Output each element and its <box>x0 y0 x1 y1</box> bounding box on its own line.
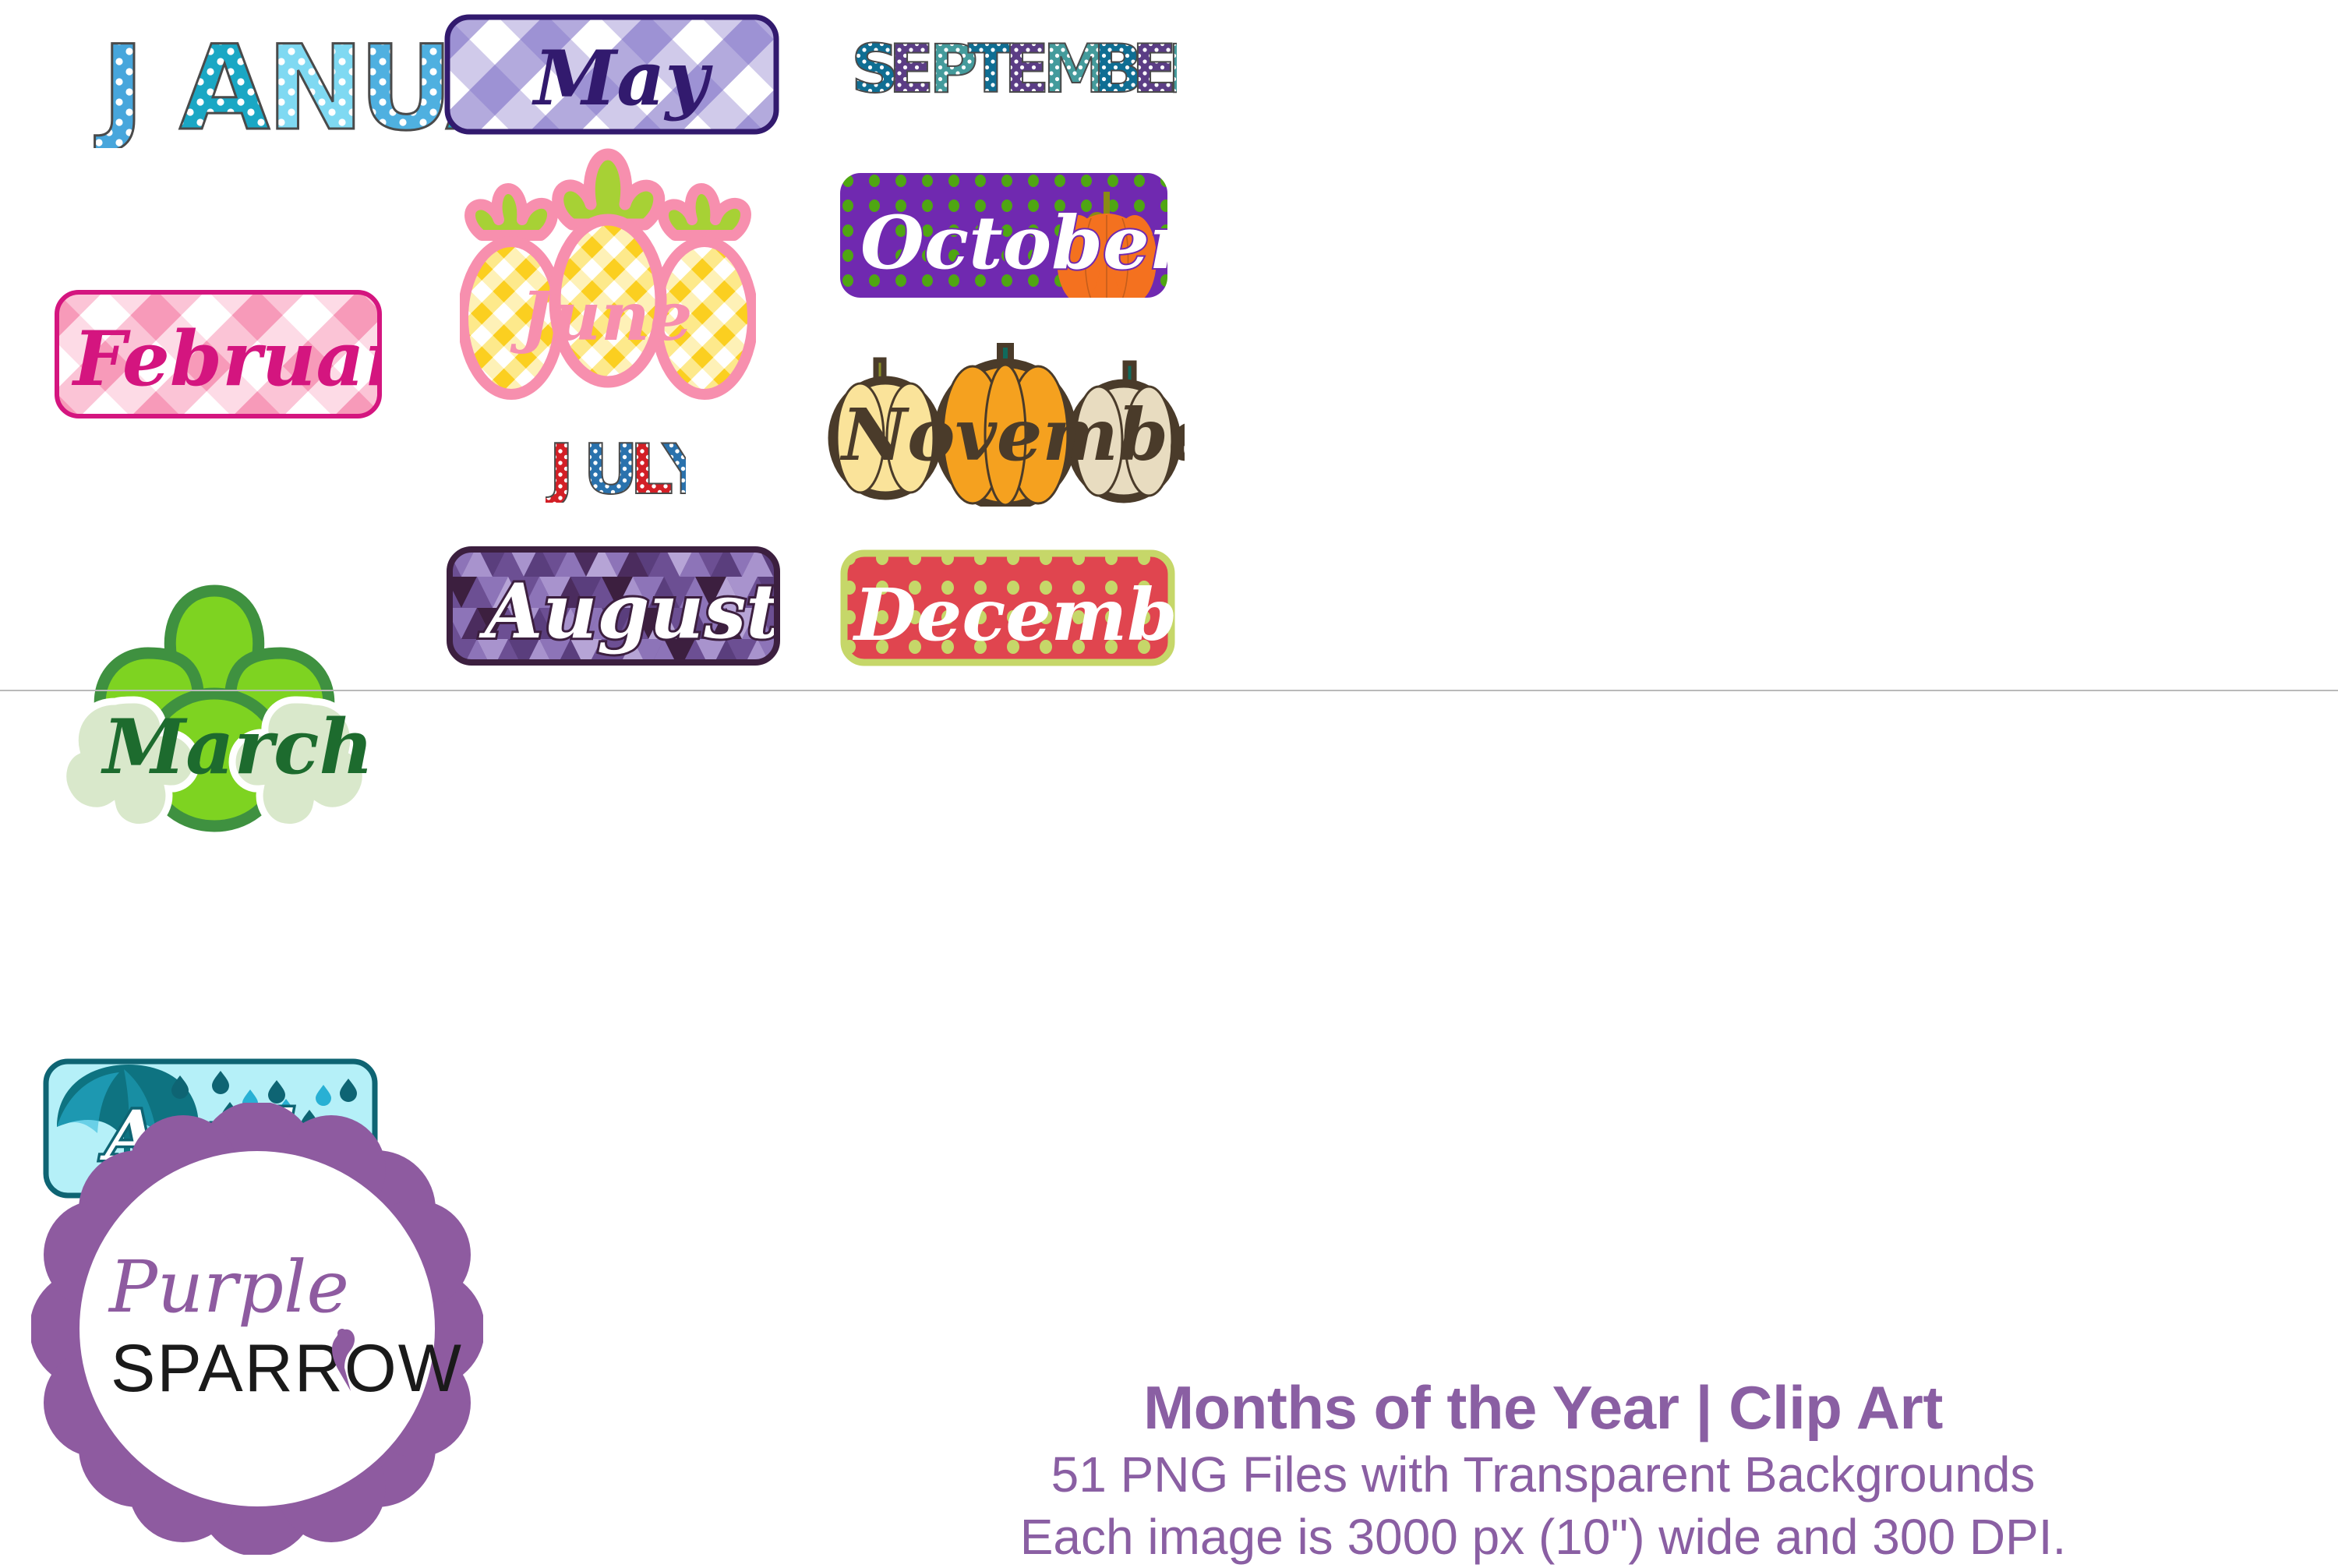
may-card: May <box>444 14 779 135</box>
logo-caps-word: SPARROW <box>111 1331 463 1406</box>
february-card: February <box>55 290 382 418</box>
august-label: August <box>479 567 781 655</box>
october-card: October <box>840 173 1167 298</box>
svg-text:R: R <box>1167 30 1177 101</box>
brand-logo[interactable]: Purple SPARROW <box>31 1103 483 1555</box>
month-item-july: J U L Y JULY <box>546 425 686 503</box>
month-item-november: November <box>826 343 1185 507</box>
svg-text:J: J <box>94 21 145 148</box>
svg-text:U: U <box>358 21 454 148</box>
file-count-note: 51 PNG Files with Transparent Background… <box>811 1443 2276 1506</box>
october-label: October <box>860 200 1167 286</box>
november-pumpkins: November <box>826 343 1185 507</box>
may-label: May <box>532 34 713 122</box>
logo-flower-icon: Purple SPARROW <box>31 1103 483 1555</box>
month-item-february: February <box>55 290 382 418</box>
svg-text:A: A <box>179 21 270 148</box>
june-pineapples: June <box>460 148 756 405</box>
month-item-august: August <box>446 546 781 666</box>
july-word-art: J U L Y JULY <box>546 425 686 503</box>
september-word-art: S E P T E M B E R SEPTEMBER <box>849 23 1177 101</box>
june-label: June <box>510 277 692 356</box>
month-item-october: October <box>840 173 1167 298</box>
march-label: March <box>101 703 373 791</box>
month-item-may: May <box>444 14 779 135</box>
august-card: August <box>446 546 781 666</box>
clip-art-preview-canvas: J A N U A R Y JANUARY <box>0 0 2338 1559</box>
march-clover: March <box>31 577 397 834</box>
month-item-march: March <box>31 577 397 834</box>
december-card: December <box>840 549 1175 666</box>
product-info-block: Months of the Year | Clip Art 51 PNG Fil… <box>811 1372 2276 1568</box>
month-item-december: December <box>840 549 1175 666</box>
svg-text:J: J <box>546 429 574 503</box>
footer-divider <box>0 690 2338 691</box>
svg-text:E: E <box>888 30 934 101</box>
logo-script-word: Purple <box>108 1245 349 1329</box>
december-label: December <box>852 573 1175 657</box>
february-label: February <box>71 315 382 403</box>
svg-text:Y: Y <box>662 429 686 503</box>
page-title: Months of the Year | Clip Art <box>811 1372 2276 1443</box>
logo-face <box>79 1151 435 1506</box>
november-label: November <box>839 393 1185 477</box>
svg-text:N: N <box>267 21 365 148</box>
month-item-june: June <box>460 148 756 405</box>
month-item-september: S E P T E M B E R SEPTEMBER <box>849 23 1177 101</box>
image-size-note: Each image is 3000 px (10") wide and 300… <box>811 1506 2276 1568</box>
